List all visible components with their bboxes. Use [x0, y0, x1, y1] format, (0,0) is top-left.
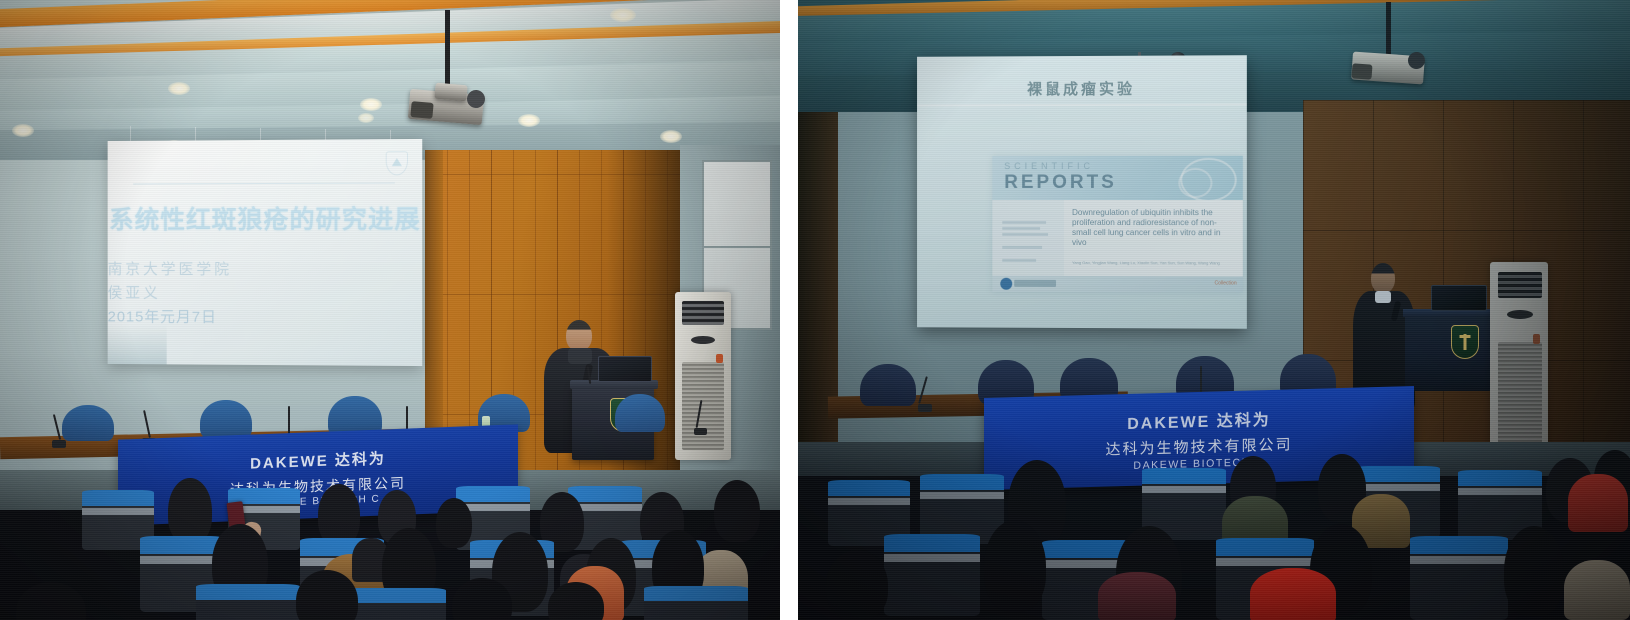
- slide-title-left: 系统性红斑狼疮的研究进展: [109, 200, 421, 237]
- journal-masthead-top: SCIENTIFIC: [1004, 161, 1094, 171]
- audience-jacket: [1568, 474, 1628, 532]
- audience-head: [826, 550, 888, 620]
- audience-seat: [884, 534, 980, 616]
- table-microphone: [918, 376, 930, 416]
- window-mullion: [702, 246, 772, 248]
- projection-screen-right: 裸鼠成瘤实验 SCIENTIFIC REPORTS Do: [917, 55, 1247, 329]
- audience-left: [0, 462, 780, 620]
- photo-pair-canvas: 系统性红斑狼疮的研究进展 南京大学医学院 侯亚义 2015年元月7日: [0, 0, 1630, 620]
- journal-footer-right: Collection: [1215, 280, 1237, 286]
- table-chair: [62, 405, 114, 441]
- journal-authors: Yang Gao, Yingjian Wang, Liang Lu, Xiaol…: [1072, 260, 1235, 266]
- ceiling-lamp: [518, 114, 540, 127]
- ceiling-lamp: [660, 130, 682, 143]
- ac-indicator: [716, 354, 723, 363]
- journal-masthead: SCIENTIFIC REPORTS: [992, 156, 1242, 200]
- nature-publishing-group-logo: [1000, 278, 1012, 290]
- audience-head: [318, 484, 360, 546]
- audience-jacket: [1564, 560, 1630, 620]
- slide-line-institution: 南京大学医学院: [108, 258, 232, 279]
- projection-screen-left: 系统性红斑狼疮的研究进展 南京大学医学院 侯亚义 2015年元月7日: [108, 139, 423, 366]
- slide-title-right: 裸鼠成瘤实验: [1027, 78, 1135, 99]
- audience-right: [798, 440, 1630, 620]
- podium-laptop: [1431, 285, 1487, 311]
- ceiling-lamp: [610, 8, 636, 22]
- journal-footer: Collection: [992, 276, 1242, 293]
- table-microphone: [52, 414, 64, 450]
- ceiling-projector: [395, 10, 505, 108]
- table-microphone: [694, 400, 706, 440]
- ceiling-lamp: [358, 113, 374, 123]
- left-photo: 系统性红斑狼疮的研究进展 南京大学医学院 侯亚义 2015年元月7日: [0, 0, 780, 620]
- speaker-head: [1371, 263, 1395, 293]
- journal-sidebar-meta: [1002, 218, 1056, 265]
- audience-head: [16, 582, 86, 620]
- audience-jacket-red: [1250, 568, 1336, 620]
- podium-laptop: [598, 356, 652, 382]
- ceiling-lamp: [360, 98, 382, 111]
- right-photo: 裸鼠成瘤实验 SCIENTIFIC REPORTS Do: [798, 0, 1630, 620]
- journal-screenshot-card: SCIENTIFIC REPORTS Downregulation of ubi…: [992, 156, 1242, 293]
- audience-seat: [1410, 536, 1508, 620]
- audience-seat: [196, 584, 300, 620]
- table-chair: [615, 394, 665, 432]
- audience-head: [436, 498, 472, 548]
- journal-article-title: Downregulation of ubiquitin inhibits the…: [1072, 208, 1235, 248]
- journal-masthead-main: REPORTS: [1004, 172, 1117, 194]
- slide-line-presenter: 侯亚义: [108, 282, 161, 303]
- audience-head: [1504, 526, 1564, 616]
- audience-seat: [644, 586, 748, 620]
- ceiling-lamp: [12, 124, 34, 137]
- table-chair: [200, 400, 252, 438]
- speaker-collar: [568, 348, 592, 364]
- audience-head: [168, 478, 212, 544]
- ceiling-lamp: [168, 82, 190, 95]
- panel-gutter: [780, 0, 798, 620]
- ceiling-projector: [1338, 2, 1448, 80]
- audience-head: [984, 520, 1046, 612]
- table-chair: [860, 364, 916, 406]
- audience-jacket: [1098, 572, 1176, 620]
- speaker-head: [566, 320, 592, 351]
- audience-head: [714, 480, 760, 542]
- speaker-shirt-collar: [1375, 291, 1391, 303]
